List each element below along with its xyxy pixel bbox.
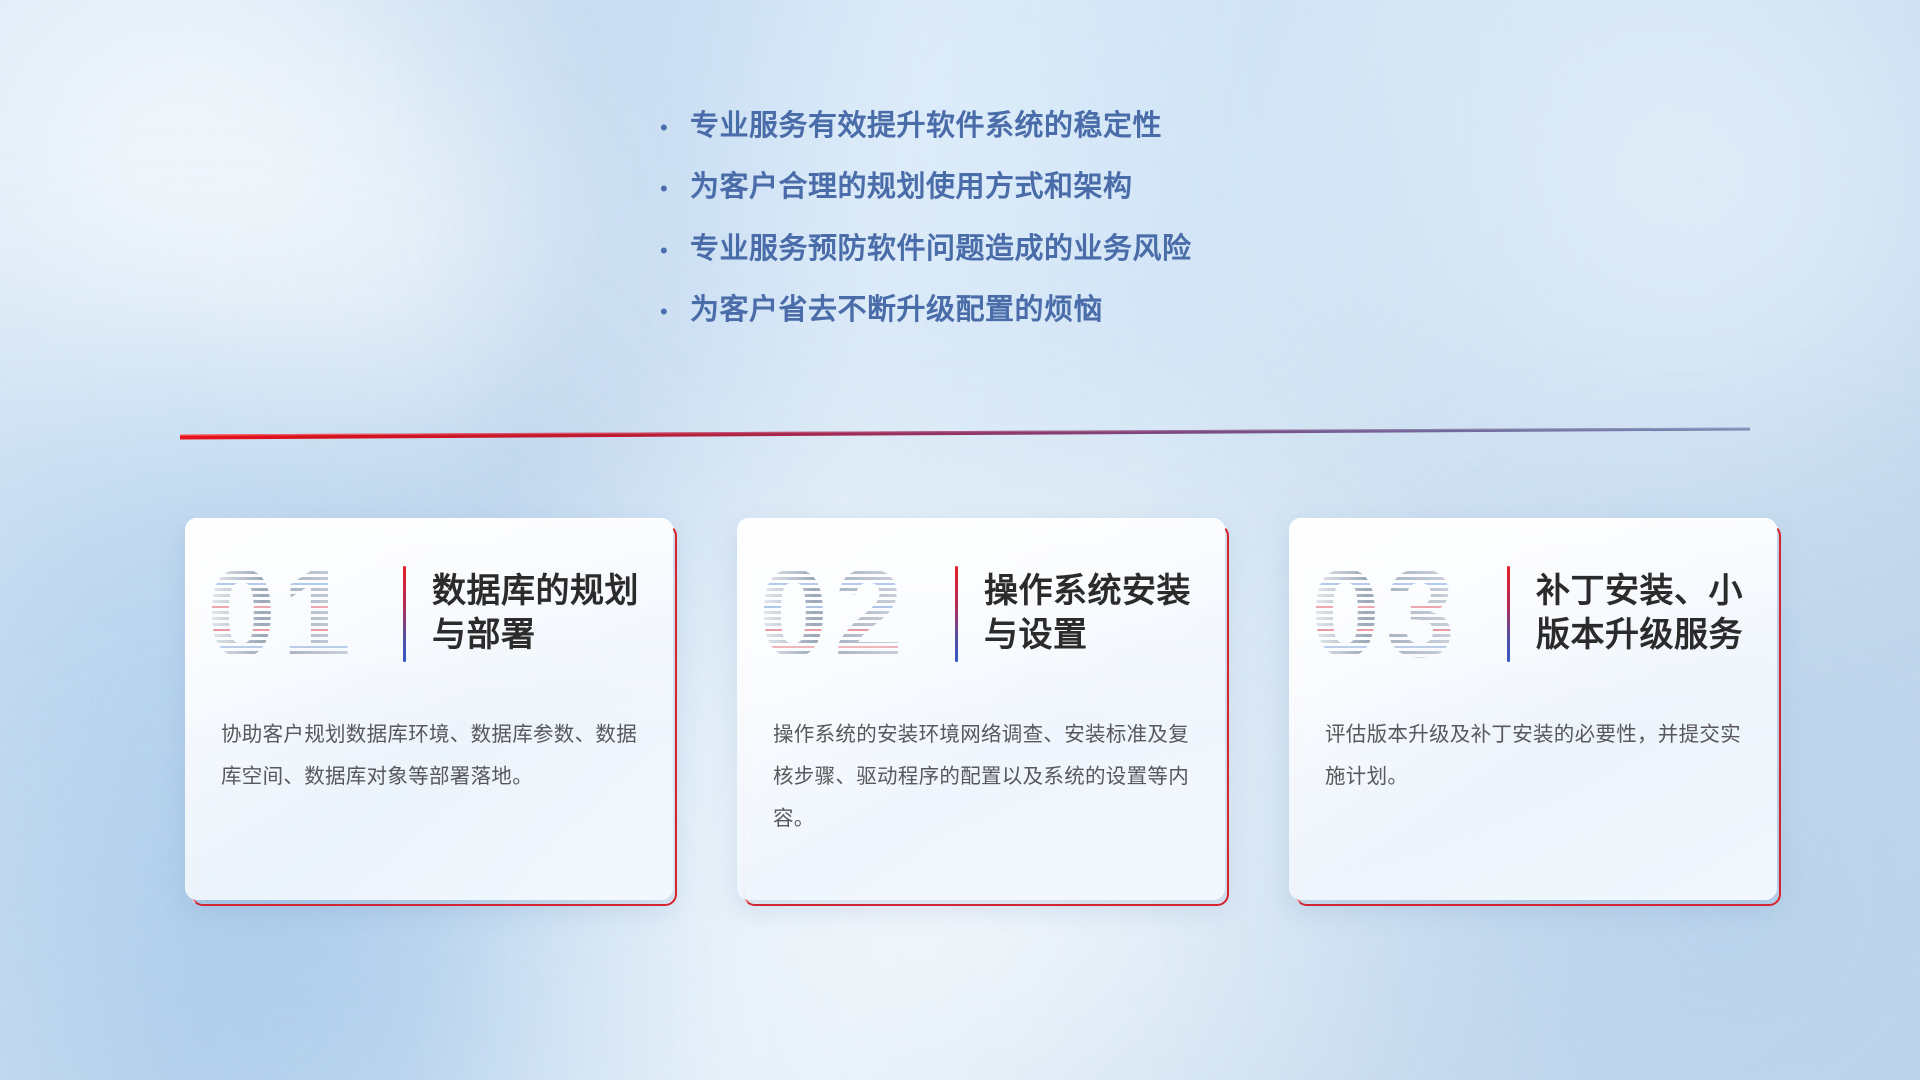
card-body-text: 评估版本升级及补丁安装的必要性，并提交实施计划。: [1325, 714, 1747, 798]
list-item: • 为客户合理的规划使用方式和架构: [660, 171, 1460, 203]
bullet-dot-icon: •: [660, 117, 690, 139]
striped-number-icon: 03: [1307, 552, 1503, 676]
card-title: 补丁安装、小版本升级服务: [1536, 570, 1751, 657]
bullet-text: 专业服务有效提升软件系统的稳定性: [690, 110, 1162, 142]
card-number-striped-01: 01: [203, 552, 399, 676]
card-number-striped-02: 02: [755, 552, 951, 676]
card-header: 02: [737, 552, 1199, 676]
card-accent-rule: [1507, 566, 1510, 662]
card-accent-rule: [955, 566, 958, 662]
card-number-striped-03: 03: [1307, 552, 1503, 676]
card-title: 数据库的规划与部署: [432, 570, 647, 657]
list-item: • 为客户省去不断升级配置的烦恼: [660, 294, 1460, 326]
card-body-text: 协助客户规划数据库环境、数据库参数、数据库空间、数据库对象等部署落地。: [221, 714, 643, 798]
service-card[interactable]: 03: [1289, 518, 1777, 900]
bullet-dot-icon: •: [660, 178, 690, 200]
striped-number-icon: 02: [755, 552, 951, 676]
card-header: 03: [1289, 552, 1751, 676]
service-card-grid: 01: [185, 518, 1777, 900]
list-item: • 专业服务预防软件问题造成的业务风险: [660, 233, 1460, 265]
bullet-text: 为客户合理的规划使用方式和架构: [690, 171, 1133, 203]
card-title: 操作系统安装与设置: [984, 570, 1199, 657]
bullet-text: 为客户省去不断升级配置的烦恼: [690, 294, 1103, 326]
bullet-dot-icon: •: [660, 240, 690, 262]
card-header: 01: [185, 552, 647, 676]
bullet-dot-icon: •: [660, 301, 690, 323]
slide-canvas: • 专业服务有效提升软件系统的稳定性 • 为客户合理的规划使用方式和架构 • 专…: [0, 0, 1920, 1080]
service-card[interactable]: 02: [737, 518, 1225, 900]
card-body-text: 操作系统的安装环境网络调查、安装标准及复核步骤、驱动程序的配置以及系统的设置等内…: [773, 714, 1195, 840]
benefits-bullet-list: • 专业服务有效提升软件系统的稳定性 • 为客户合理的规划使用方式和架构 • 专…: [660, 110, 1460, 356]
striped-number-icon: 01: [203, 552, 399, 676]
list-item: • 专业服务有效提升软件系统的稳定性: [660, 110, 1460, 142]
bullet-text: 专业服务预防软件问题造成的业务风险: [690, 233, 1192, 265]
service-card[interactable]: 01: [185, 518, 673, 900]
card-accent-rule: [403, 566, 406, 662]
